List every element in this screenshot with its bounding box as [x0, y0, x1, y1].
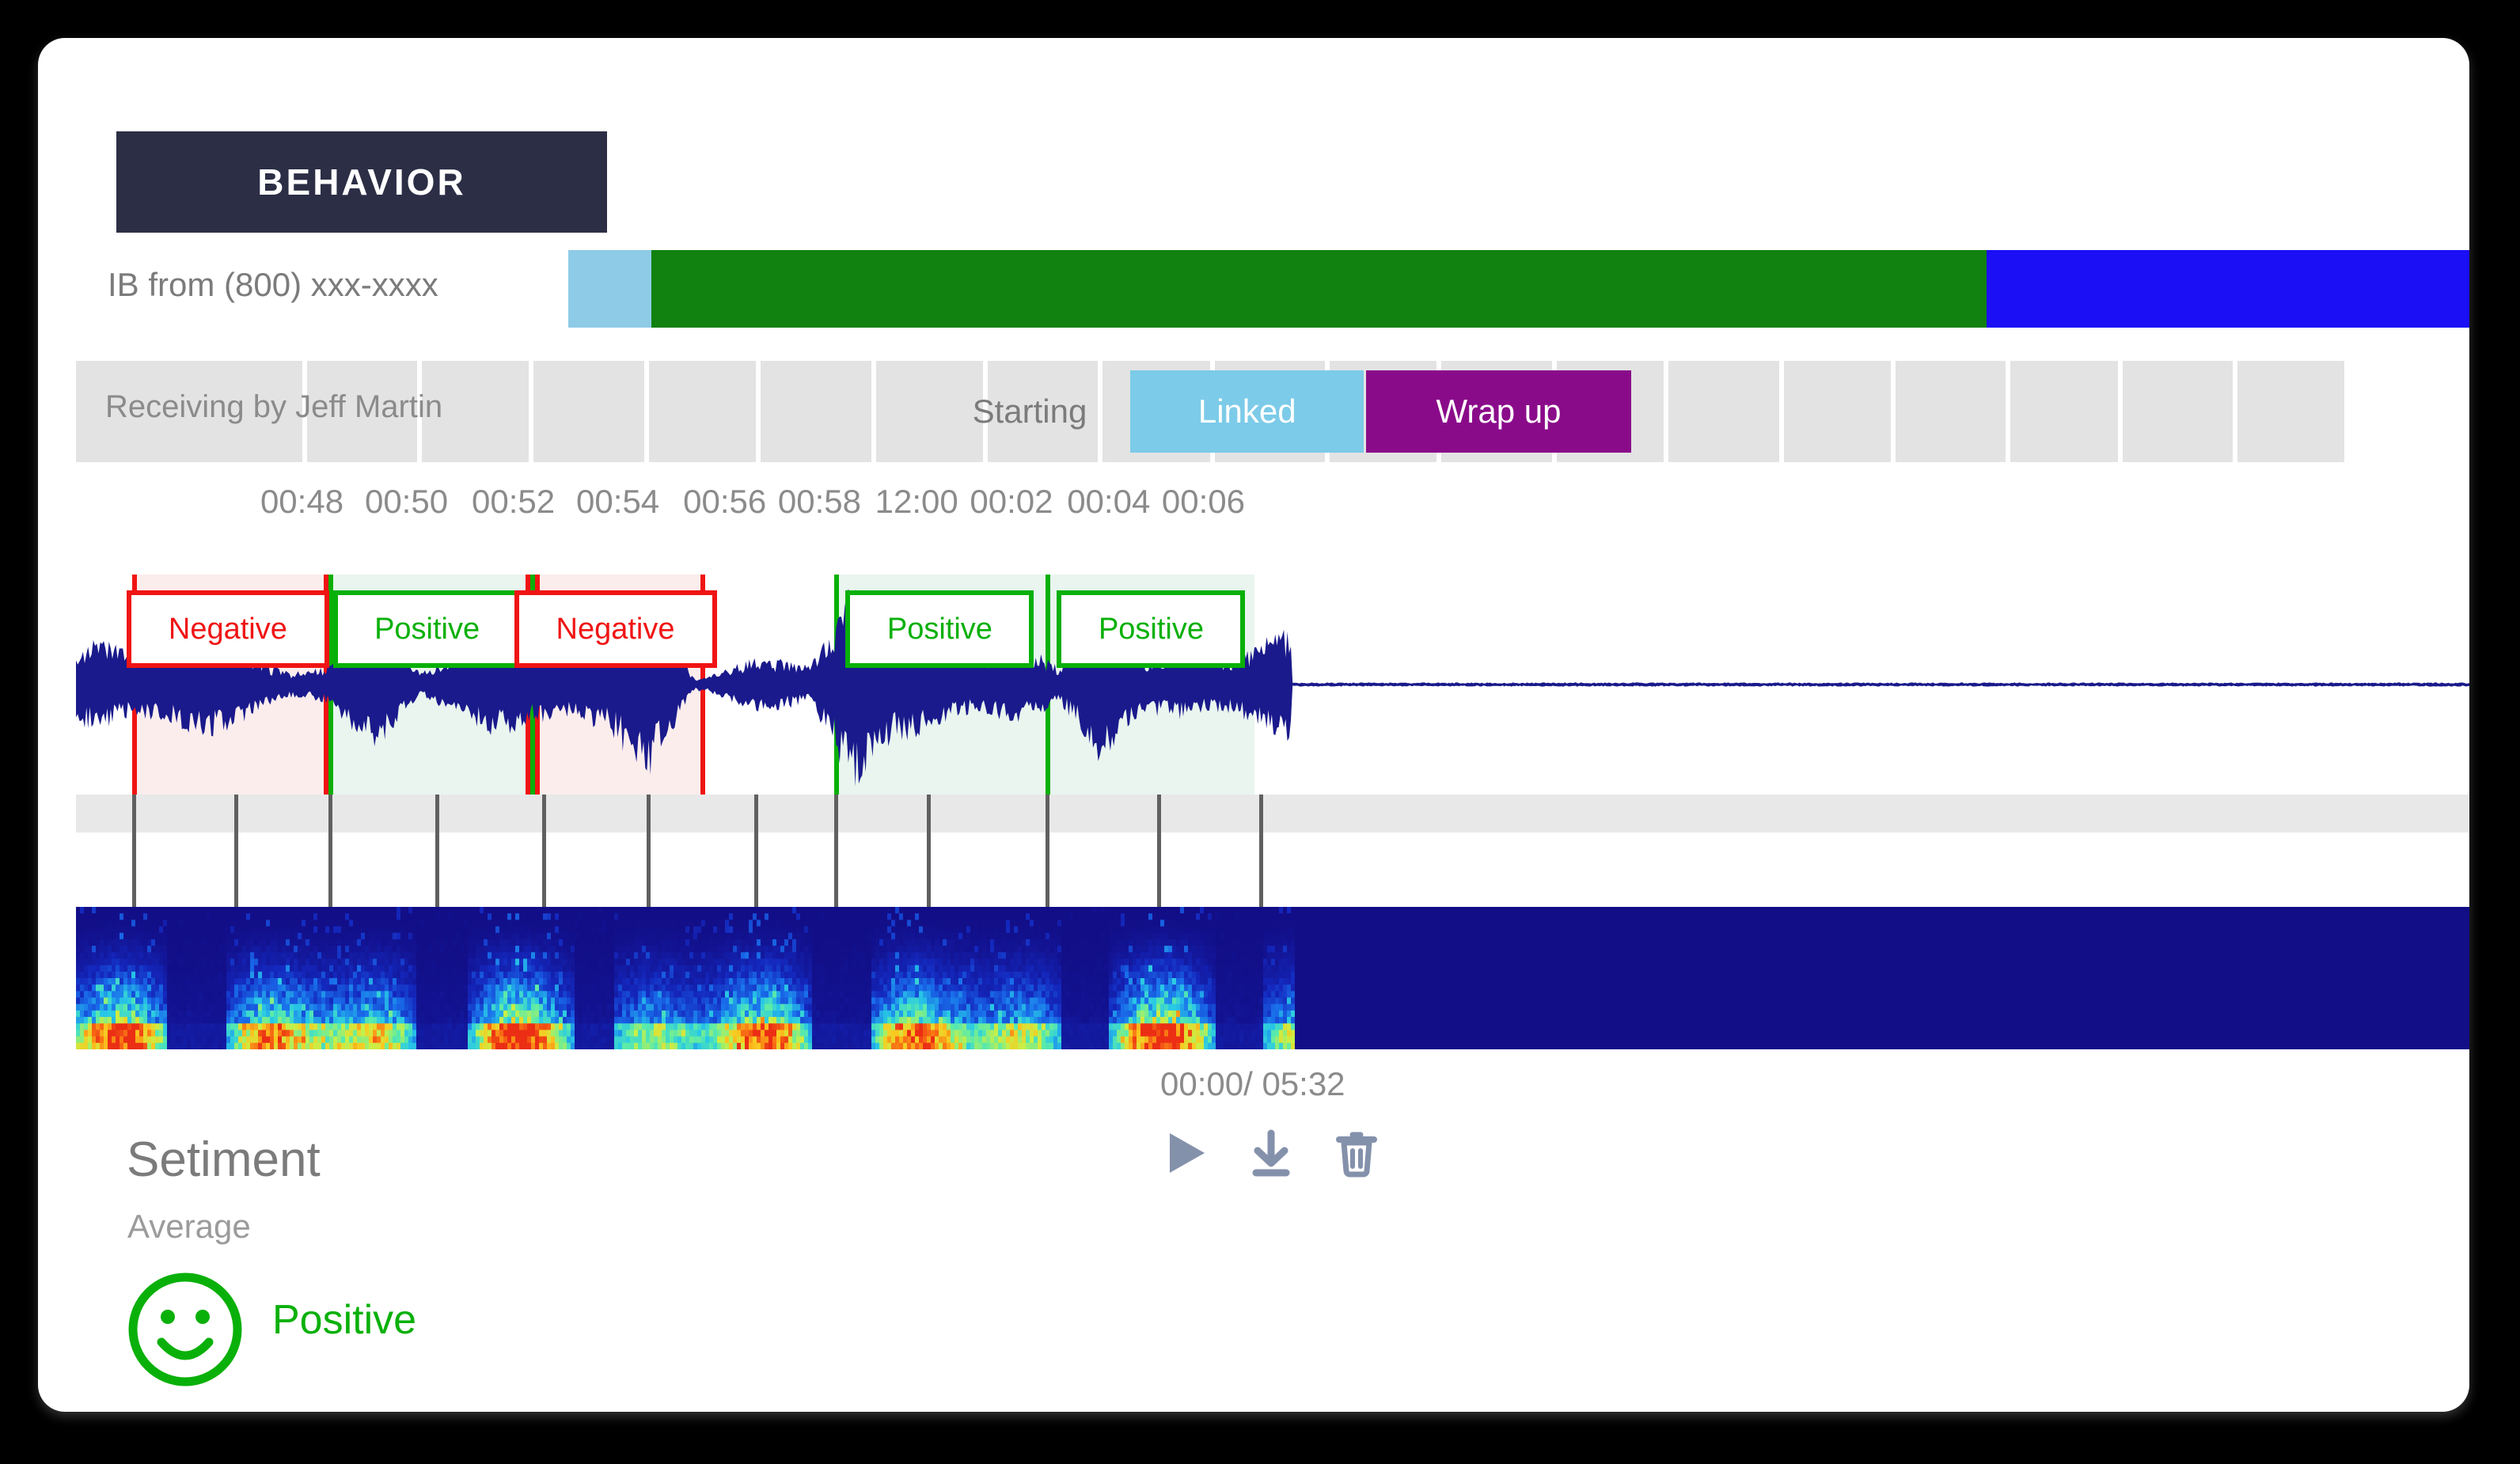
call-state-bar[interactable] — [568, 250, 2469, 328]
timeline-tick — [834, 795, 838, 907]
sentiment-tag-positive[interactable]: Positive — [333, 590, 522, 668]
trash-icon[interactable] — [1333, 1128, 1380, 1178]
timeline-tick — [1157, 795, 1161, 907]
speaker-cell[interactable] — [1896, 361, 2006, 462]
timeline-tick — [1259, 795, 1263, 907]
sentiment-value: Positive — [272, 1296, 416, 1344]
speaker-cell[interactable] — [1784, 361, 1891, 462]
waveform-panel[interactable]: NegativePositiveNegativePositivePositive — [76, 575, 2469, 795]
time-tick-label: 00:04 — [1067, 483, 1150, 521]
speaker-cell[interactable] — [761, 361, 871, 462]
speaker-cell[interactable] — [2123, 361, 2233, 462]
phase-chip-wrapup[interactable]: Wrap up — [1366, 370, 1631, 453]
sentiment-subtitle: Average — [127, 1208, 251, 1246]
speaker-cell[interactable] — [2010, 361, 2117, 462]
timeline-tick — [1046, 795, 1049, 907]
speaker-cell[interactable] — [1668, 361, 1779, 462]
player-controls — [1162, 1128, 1380, 1178]
phase-chip-linked[interactable]: Linked — [1130, 370, 1364, 453]
caller-label: IB from (800) xxx-xxxx — [108, 266, 438, 304]
timeline-tick — [542, 795, 546, 907]
sentiment-tag-positive[interactable]: Positive — [845, 590, 1034, 668]
time-tick-label: 00:58 — [778, 483, 861, 521]
sentiment-tag-negative[interactable]: Negative — [514, 590, 717, 668]
sentiment-title: Setiment — [127, 1132, 321, 1188]
time-tick-label: 00:06 — [1162, 483, 1245, 521]
time-tick-label: 00:52 — [472, 483, 555, 521]
speaker-cell[interactable] — [533, 361, 644, 462]
sentiment-tag-positive[interactable]: Positive — [1057, 590, 1245, 668]
call-state-segment-transfer[interactable] — [1987, 250, 2469, 328]
phase-chip-starting[interactable]: Starting — [939, 370, 1121, 453]
behavior-tag-label: BEHAVIOR — [257, 161, 465, 203]
time-tick-label: 00:50 — [365, 483, 448, 521]
speaker-cell[interactable] — [2237, 361, 2344, 462]
player-time-display: 00:00/ 05:32 — [1160, 1065, 1345, 1103]
time-tick-label: 00:48 — [260, 483, 343, 521]
speaker-timeline-row: Receiving by Jeff Martin StartingLinkedW… — [76, 361, 2469, 462]
time-axis: 00:4800:5000:5200:5400:5600:5812:0000:02… — [76, 483, 2469, 554]
timeline-tick — [435, 795, 439, 907]
smiley-face-icon — [127, 1271, 244, 1388]
timeline-tick — [234, 795, 238, 907]
analytics-card: BEHAVIOR IB from (800) xxx-xxxx Receivin… — [38, 38, 2469, 1412]
timeline-tick — [328, 795, 332, 907]
time-tick-label: 12:00 — [875, 483, 958, 521]
download-icon[interactable] — [1247, 1128, 1295, 1178]
play-icon[interactable] — [1162, 1128, 1209, 1178]
speaker-name-label: Receiving by Jeff Martin — [105, 389, 442, 425]
sentiment-tag-negative[interactable]: Negative — [127, 590, 329, 668]
time-tick-label: 00:54 — [576, 483, 659, 521]
call-state-segment-hold[interactable] — [568, 250, 651, 328]
speaker-cell[interactable] — [649, 361, 756, 462]
time-tick-label: 00:02 — [970, 483, 1053, 521]
timeline-tickmarks — [76, 795, 2469, 907]
spectrogram-graphic — [76, 907, 2469, 1049]
call-state-segment-talk[interactable] — [651, 250, 1987, 328]
spectrogram-panel[interactable] — [76, 907, 2469, 1049]
time-tick-label: 00:56 — [683, 483, 766, 521]
timeline-tick — [927, 795, 931, 907]
behavior-tag: BEHAVIOR — [116, 131, 607, 233]
timeline-tick — [132, 795, 136, 907]
timeline-tick — [647, 795, 651, 907]
timeline-tick — [754, 795, 758, 907]
